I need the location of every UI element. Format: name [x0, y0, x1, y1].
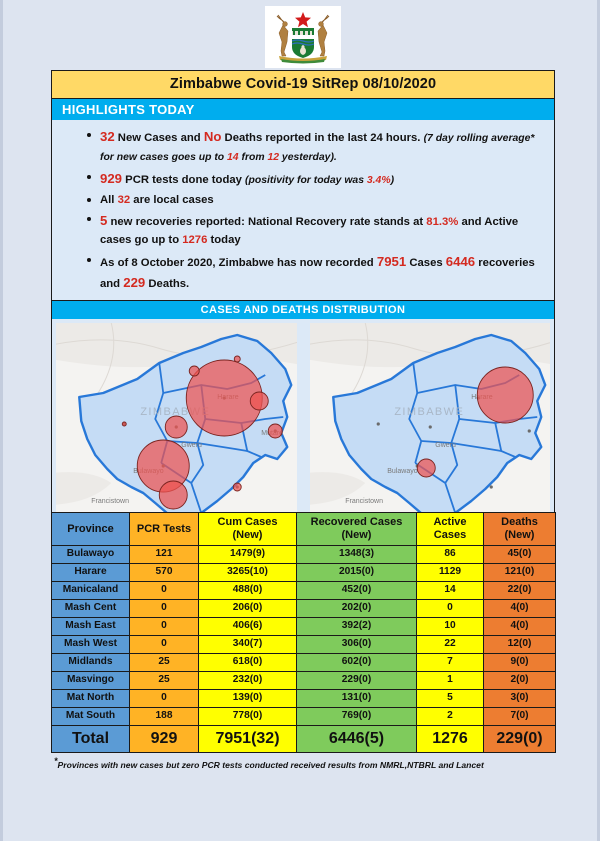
bullet-text-fragment: ): [391, 175, 394, 186]
cell-province: Mash Cent: [52, 600, 130, 618]
cell-deaths: 3(0): [484, 690, 556, 708]
table-row: Masvingo25232(0)229(0)12(0): [52, 672, 556, 690]
cell-deaths: 12(0): [484, 636, 556, 654]
col-header-recovered: Recovered Cases(New): [297, 513, 417, 546]
sitrep-card: Zimbabwe Covid-19 SitRep 08/10/2020 HIGH…: [51, 70, 555, 555]
cell-recovered: 392(2): [297, 618, 417, 636]
bullet-text-fragment: are local cases: [130, 194, 214, 206]
cell-cum-cases: 618(0): [199, 654, 297, 672]
cell-cum-cases: 488(0): [199, 582, 297, 600]
cell-deaths: 2(0): [484, 672, 556, 690]
cell-province: Manicaland: [52, 582, 130, 600]
cell-pcr-tests: 570: [130, 564, 199, 582]
cell-cum-cases: 1479(9): [199, 546, 297, 564]
cell-province: Mash West: [52, 636, 130, 654]
cell-pcr-tests: 0: [130, 582, 199, 600]
total-cell-deaths: 229(0): [484, 726, 556, 753]
cell-active: 5: [417, 690, 484, 708]
bullet-text-fragment: 929: [100, 171, 122, 186]
report-page: Zimbabwe Covid-19 SitRep 08/10/2020 HIGH…: [0, 0, 600, 841]
cell-active: 1: [417, 672, 484, 690]
highlight-bullet-cumulative: As of 8 October 2020, Zimbabwe has now r…: [100, 251, 542, 294]
bullet-text-fragment: 3.4%: [367, 175, 391, 186]
table-row: Mash West0340(7)306(0)2212(0): [52, 636, 556, 654]
table-row: Bulawayo1211479(9)1348(3)8645(0): [52, 546, 556, 564]
cell-recovered: 452(0): [297, 582, 417, 600]
svg-text:Gweru: Gweru: [435, 442, 456, 449]
bullet-text-fragment: Deaths.: [145, 278, 189, 290]
coat-of-arms-container: [265, 6, 341, 68]
bullet-text-fragment: (positivity for today was: [245, 175, 367, 186]
table-row: Harare5703265(10)2015(0)1129121(0): [52, 564, 556, 582]
cell-cum-cases: 139(0): [199, 690, 297, 708]
cell-deaths: 22(0): [484, 582, 556, 600]
bullet-text-fragment: 81.3%: [426, 216, 458, 228]
bullet-text-fragment: 1276: [182, 234, 207, 246]
distribution-header: CASES AND DEATHS DISTRIBUTION: [52, 300, 554, 319]
cell-pcr-tests: 25: [130, 672, 199, 690]
table-row: Midlands25618(0)602(0)79(0): [52, 654, 556, 672]
table-body: Bulawayo1211479(9)1348(3)8645(0)Harare57…: [52, 546, 556, 753]
cell-active: 22: [417, 636, 484, 654]
cell-pcr-tests: 188: [130, 708, 199, 726]
table-row: Manicaland0488(0)452(0)1422(0): [52, 582, 556, 600]
cell-active: 1129: [417, 564, 484, 582]
table-row: Mat North0139(0)131(0)53(0): [52, 690, 556, 708]
bullet-text-fragment: 12: [267, 152, 279, 163]
cell-active: 10: [417, 618, 484, 636]
total-cell-active: 1276: [417, 726, 484, 753]
cell-cum-cases: 206(0): [199, 600, 297, 618]
table-row: Mash East0406(6)392(2)104(0): [52, 618, 556, 636]
col-header-province: Province: [52, 513, 130, 546]
bullet-text-fragment: today: [207, 234, 240, 246]
cell-cum-cases: 232(0): [199, 672, 297, 690]
cell-province: Masvingo: [52, 672, 130, 690]
cell-active: 0: [417, 600, 484, 618]
cell-deaths: 45(0): [484, 546, 556, 564]
svg-text:Francistown: Francistown: [91, 498, 129, 505]
svg-text:Bulawayo: Bulawayo: [387, 468, 417, 475]
cell-pcr-tests: 0: [130, 690, 199, 708]
cell-active: 86: [417, 546, 484, 564]
bullet-text-fragment: 32: [118, 194, 131, 206]
cell-province: Midlands: [52, 654, 130, 672]
highlight-bullet-new-cases-deaths: 32 New Cases and No Deaths reported in t…: [100, 126, 542, 167]
bullet-text-fragment: new recoveries reported: National Recove…: [107, 216, 426, 228]
bullet-text-fragment: 6446: [446, 254, 475, 269]
total-cell-pcr-tests: 929: [130, 726, 199, 753]
cell-cum-cases: 3265(10): [199, 564, 297, 582]
col-header-cum-cases: Cum Cases(New): [199, 513, 297, 546]
highlights-header: HIGHLIGHTS TODAY: [52, 99, 554, 120]
bullet-text-fragment: No: [204, 129, 222, 144]
cell-province: Mat South: [52, 708, 130, 726]
table-row: Mash Cent0206(0)202(0)04(0): [52, 600, 556, 618]
bullet-text-fragment: yesterday).: [279, 152, 337, 163]
cell-deaths: 4(0): [484, 618, 556, 636]
zimbabwe-coat-of-arms-icon: [272, 9, 334, 65]
cell-deaths: 121(0): [484, 564, 556, 582]
table-footnote: *Provinces with new cases but zero PCR t…: [51, 756, 555, 770]
cell-recovered: 131(0): [297, 690, 417, 708]
cell-recovered: 202(0): [297, 600, 417, 618]
cell-province: Mash East: [52, 618, 130, 636]
table-header-row: Province PCR Tests Cum Cases(New) Recove…: [52, 513, 556, 546]
cell-recovered: 229(0): [297, 672, 417, 690]
cell-deaths: 9(0): [484, 654, 556, 672]
bullet-text-fragment: 14: [227, 152, 239, 163]
cell-active: 7: [417, 654, 484, 672]
bullet-text-fragment: Cases: [406, 257, 446, 269]
highlight-bullet-recoveries: 5 new recoveries reported: National Reco…: [100, 210, 542, 250]
total-cell-province: Total: [52, 726, 130, 753]
cell-recovered: 1348(3): [297, 546, 417, 564]
bullet-text-fragment: 32: [100, 129, 115, 144]
bullet-text-fragment: As of 8 October 2020, Zimbabwe has now r…: [100, 257, 377, 269]
cell-recovered: 2015(0): [297, 564, 417, 582]
highlight-bullet-pcr-tests: 929 PCR tests done today (positivity for…: [100, 168, 542, 190]
provincial-covid-table: Province PCR Tests Cum Cases(New) Recove…: [51, 512, 556, 753]
highlights-bullets: 32 New Cases and No Deaths reported in t…: [52, 120, 554, 300]
bullet-text-fragment: 7951: [377, 254, 406, 269]
cell-province: Mat North: [52, 690, 130, 708]
cell-deaths: 4(0): [484, 600, 556, 618]
cell-pcr-tests: 25: [130, 654, 199, 672]
cell-recovered: 306(0): [297, 636, 417, 654]
highlight-bullet-local-cases: All 32 are local cases: [100, 191, 542, 209]
svg-text:Gweru: Gweru: [181, 442, 202, 449]
cell-cum-cases: 406(6): [199, 618, 297, 636]
cell-pcr-tests: 121: [130, 546, 199, 564]
cell-active: 2: [417, 708, 484, 726]
bullet-text-fragment: Deaths reported in the last 24 hours.: [221, 132, 423, 144]
bullet-text-fragment: PCR tests done today: [122, 174, 245, 186]
cell-pcr-tests: 0: [130, 636, 199, 654]
bullet-text-fragment: 229: [123, 275, 145, 290]
svg-text:ZIMBABWE: ZIMBABWE: [394, 406, 464, 418]
bullet-text-fragment: New Cases and: [115, 132, 204, 144]
cell-recovered: 769(0): [297, 708, 417, 726]
cell-pcr-tests: 0: [130, 600, 199, 618]
bullet-text-fragment: All: [100, 194, 118, 206]
table-total-row: Total9297951(32)6446(5)1276229(0): [52, 726, 556, 753]
total-cell-recovered: 6446(5): [297, 726, 417, 753]
cell-recovered: 602(0): [297, 654, 417, 672]
cell-pcr-tests: 0: [130, 618, 199, 636]
svg-text:Francistown: Francistown: [345, 498, 383, 505]
table-container: Province PCR Tests Cum Cases(New) Recove…: [51, 512, 555, 770]
bullet-text-fragment: from: [239, 152, 268, 163]
table-row: Mat South188778(0)769(0)27(0): [52, 708, 556, 726]
total-cell-cum-cases: 7951(32): [199, 726, 297, 753]
col-header-active: ActiveCases: [417, 513, 484, 546]
cell-cum-cases: 778(0): [199, 708, 297, 726]
cell-cum-cases: 340(7): [199, 636, 297, 654]
col-header-deaths: Deaths(New): [484, 513, 556, 546]
col-header-pcr-tests: PCR Tests: [130, 513, 199, 546]
cell-province: Harare: [52, 564, 130, 582]
page-title: Zimbabwe Covid-19 SitRep 08/10/2020: [52, 71, 554, 99]
cell-deaths: 7(0): [484, 708, 556, 726]
table-header: Province PCR Tests Cum Cases(New) Recove…: [52, 513, 556, 546]
cell-active: 14: [417, 582, 484, 600]
cell-province: Bulawayo: [52, 546, 130, 564]
